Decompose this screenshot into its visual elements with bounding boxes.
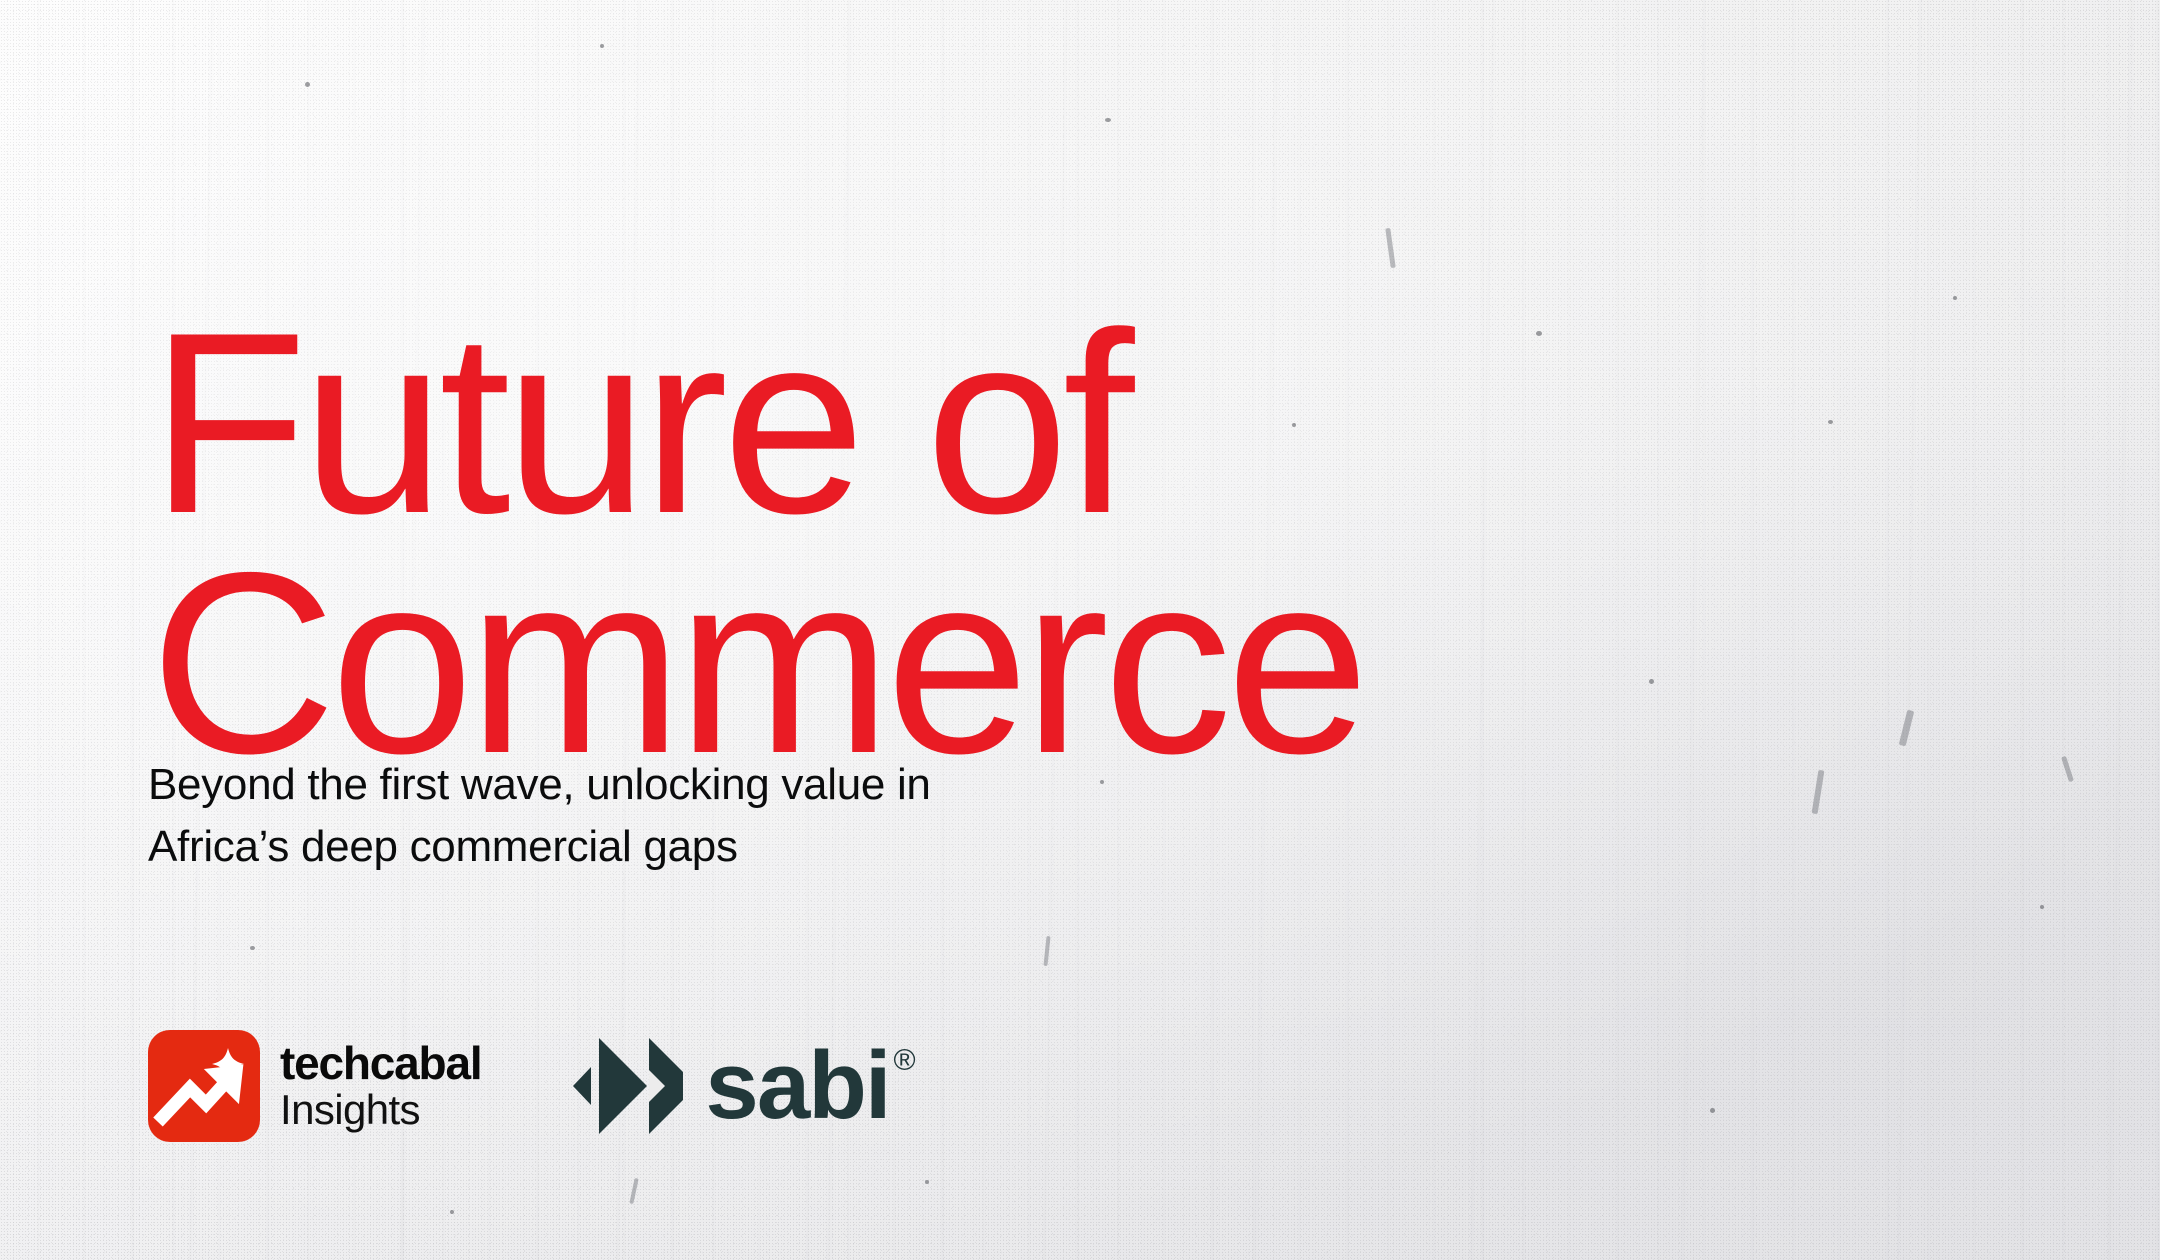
techcabal-insights-logo: techcabal Insights [148,1030,481,1142]
techcabal-insights-label: Insights [280,1088,481,1133]
sabi-wordmark: sabi ® [705,1038,915,1134]
sabi-triangles-icon [547,1030,683,1142]
cover-slide: Future of Commerce Beyond the first wave… [0,0,2160,1260]
sabi-name: sabi [705,1038,889,1134]
techcabal-wordmark: techcabal Insights [280,1039,481,1132]
logo-lockup: techcabal Insights sabi [148,1030,916,1142]
page-subtitle: Beyond the first wave, unlocking value i… [148,754,1348,879]
techcabal-name: techcabal [280,1039,481,1088]
registered-trademark-icon: ® [894,1046,916,1076]
growth-arrow-sparkle-icon [148,1030,260,1142]
page-title: Future of Commerce [150,303,1650,783]
sabi-logo: sabi ® [547,1030,915,1142]
